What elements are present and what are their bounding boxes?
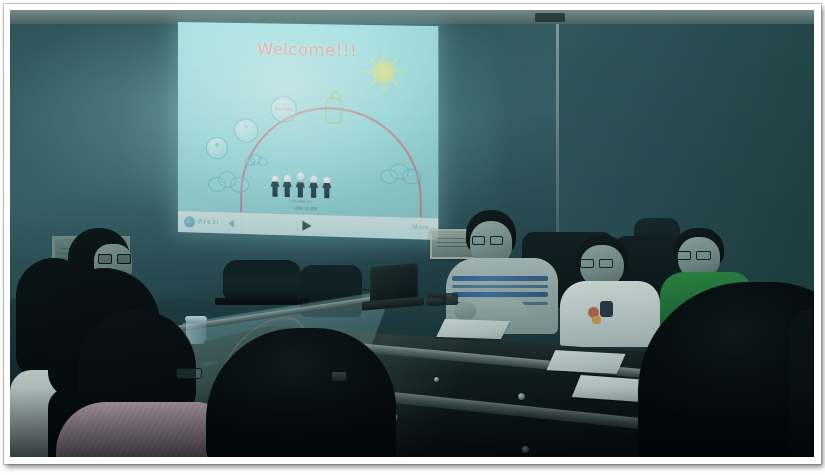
climber-figure-icon [325, 97, 341, 124]
team-figures-graphic: Let's make our ↑ 一起努力前進吧 [270, 170, 333, 198]
person-speaker [442, 210, 562, 330]
prezi-dot-icon [184, 216, 195, 227]
paper-sheet [436, 319, 510, 339]
figures-caption-line-2: 一起努力前進吧 [291, 205, 317, 211]
table-bolt [518, 393, 525, 400]
laptop[interactable] [362, 265, 424, 313]
conference-room: Welcome!!! ✺ [10, 10, 814, 457]
play-triangle-icon[interactable] [302, 221, 311, 231]
cloud-1 [208, 171, 250, 194]
cloud-2 [244, 154, 268, 168]
tshirt-graphic [586, 297, 620, 327]
cable [340, 288, 374, 298]
cloud-3 [381, 163, 422, 185]
prezi-slide: Welcome!!! ✺ [178, 22, 438, 240]
bubble-3: ☼ Passion [270, 96, 296, 123]
hair [638, 282, 814, 457]
back-arrow-icon[interactable] [228, 219, 234, 227]
projection-screen: Welcome!!! ✺ [178, 22, 438, 240]
bubble-3-label: Passion [271, 107, 295, 113]
photograph: Welcome!!! ✺ [10, 10, 814, 457]
figures-caption-line-1: Let's make our ↑ [290, 199, 314, 204]
table-bolt [522, 446, 529, 453]
ceiling-vent [535, 13, 565, 22]
photo-frame: Welcome!!! ✺ [4, 4, 821, 464]
person-right-edge [790, 310, 814, 457]
eyeglasses-icon [580, 259, 618, 268]
slide-title: Welcome!!! [257, 39, 357, 60]
prezi-logo-text: Prezi [198, 219, 220, 227]
bubble-1: ✺ [206, 137, 228, 160]
person-right-foreground [638, 282, 814, 457]
paper-sheet [546, 350, 625, 374]
person-center-long-hair [206, 328, 396, 457]
sparkle-icon: ✺ [207, 142, 227, 150]
hand [454, 302, 476, 320]
table-bolt [434, 377, 439, 382]
hair-clip [332, 372, 346, 381]
more-button[interactable]: More [412, 225, 429, 232]
prezi-logo[interactable]: Prezi [184, 216, 220, 228]
eyeglasses-icon [176, 368, 202, 379]
eyeglasses-icon [472, 236, 508, 245]
hair [206, 328, 396, 457]
sun-icon [363, 51, 404, 92]
lightbulb-icon: ☺ [235, 124, 257, 131]
eyeglasses-icon [676, 251, 716, 260]
bubble-2: ☺ [234, 118, 258, 143]
mouse[interactable] [426, 298, 442, 306]
